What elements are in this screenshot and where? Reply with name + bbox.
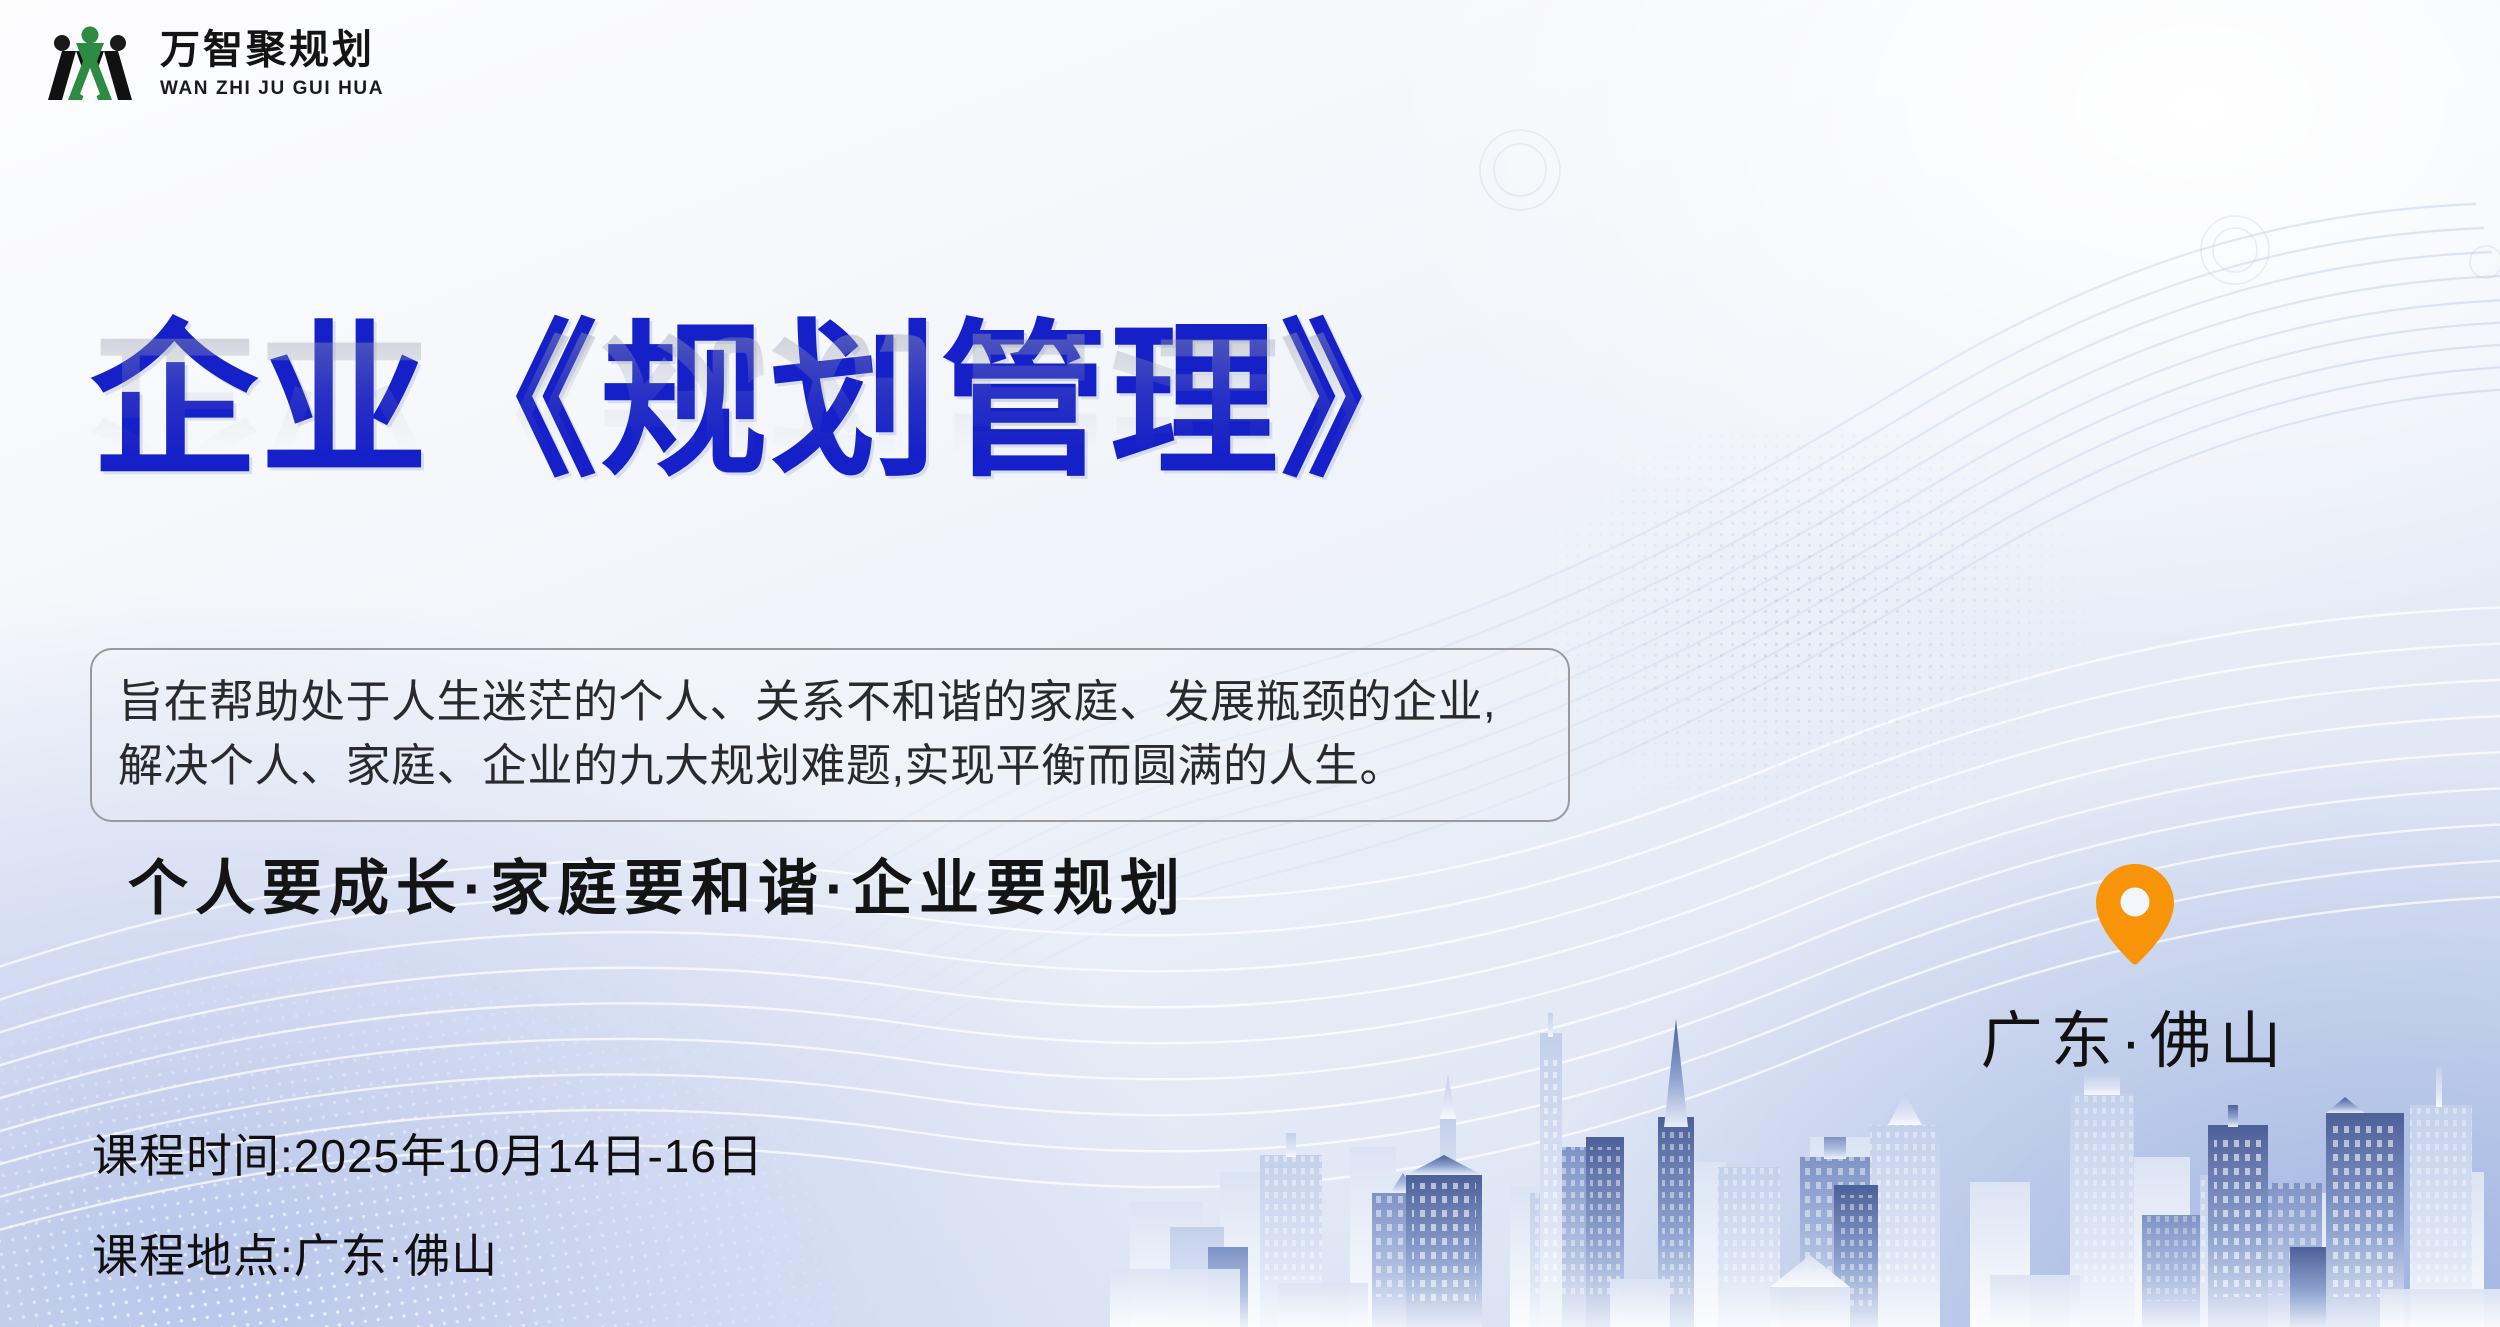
brand-name-cn: 万智聚规划: [160, 30, 384, 70]
description-line-2: 解决个人、家庭、企业的九大规划难题,实现平衡而圆满的人生。: [118, 734, 1542, 798]
course-info: 课程时间:2025年10月14日-16日 课程地点:广东·佛山: [92, 1120, 764, 1320]
location-label: 广东·佛山: [1955, 990, 2315, 1080]
course-place: 课程地点:广东·佛山: [92, 1220, 764, 1286]
three-people-m-logo-icon: [42, 24, 138, 104]
brand-logo: 万智聚规划 WAN ZHI JU GUI HUA: [42, 24, 384, 104]
course-time: 课程时间:2025年10月14日-16日: [92, 1120, 764, 1186]
description-box: 旨在帮助处于人生迷茫的个人、关系不和谐的家庭、发展瓶颈的企业, 解决个人、家庭、…: [90, 648, 1570, 822]
tagline: 个人要成长·家庭要和谐·企业要规划: [128, 840, 1187, 927]
description-line-1: 旨在帮助处于人生迷茫的个人、关系不和谐的家庭、发展瓶颈的企业,: [118, 670, 1542, 734]
page-title-reflection: 企业《规划管理》: [90, 324, 1450, 492]
map-pin-icon: [2093, 862, 2177, 966]
location-block: 广东·佛山: [1955, 862, 2315, 1080]
brand-name-en: WAN ZHI JU GUI HUA: [160, 79, 384, 98]
poster-canvas: 万智聚规划 WAN ZHI JU GUI HUA 企业《规划管理》 企业《规划管…: [0, 0, 2500, 1327]
hero-title-block: 企业《规划管理》 企业《规划管理》: [90, 318, 1450, 660]
